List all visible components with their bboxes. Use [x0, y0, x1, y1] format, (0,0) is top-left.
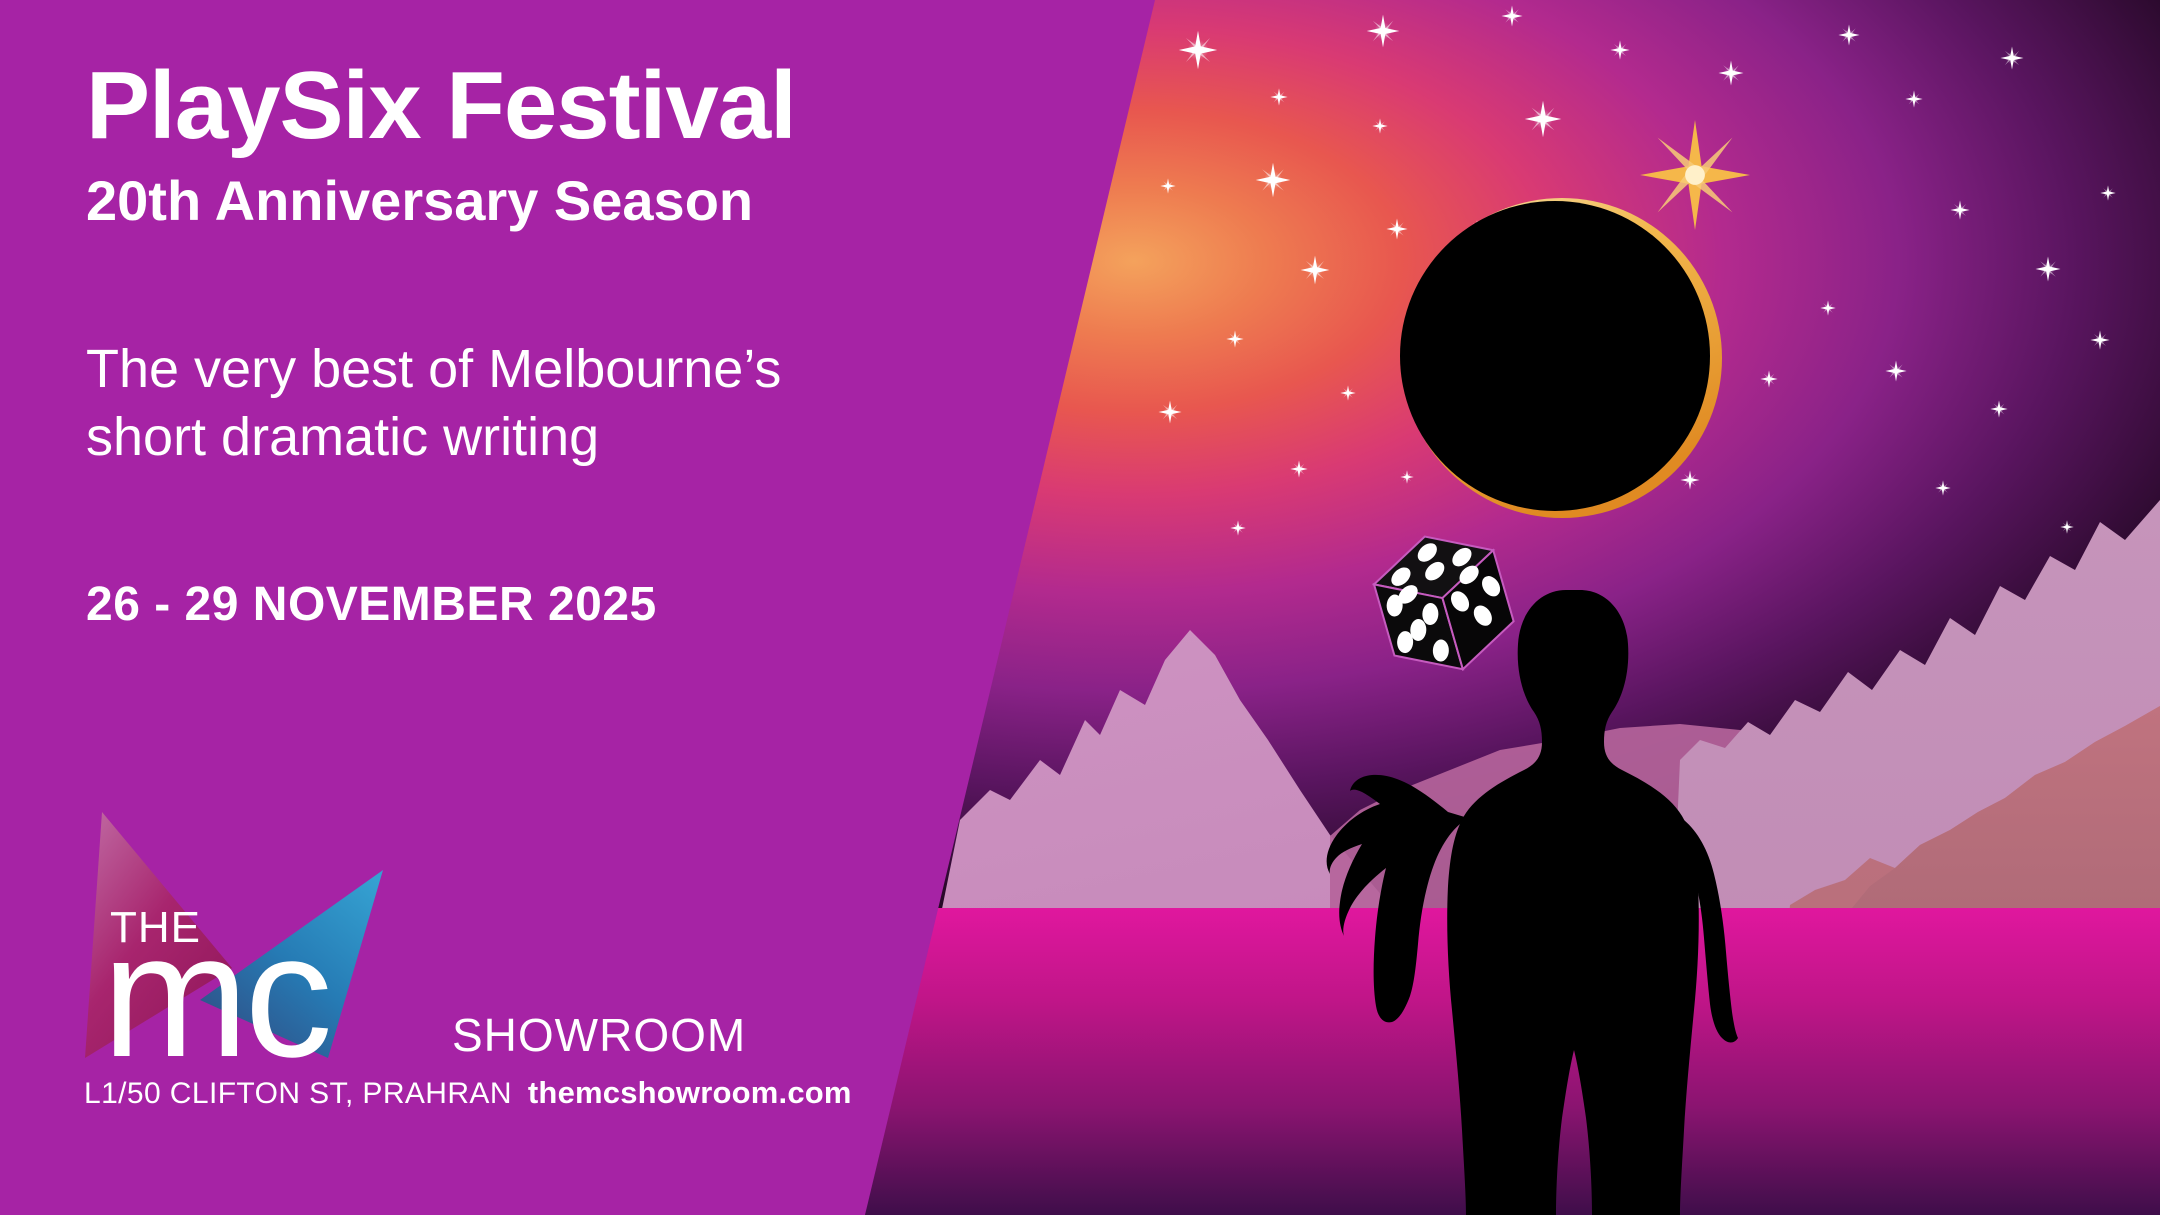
festival-poster: PlaySix Festival 20th Anniversary Season…	[0, 0, 2160, 1215]
mc-showroom-logo[interactable]: THE mc SHOWROOM L1/50 CLIFTON ST, PRAHRA…	[80, 800, 780, 1150]
logo-showroom-text: SHOWROOM	[452, 1008, 746, 1062]
event-dates: 26 - 29 NOVEMBER 2025	[86, 579, 796, 632]
logo-mc: mc	[102, 898, 329, 1080]
poster-tagline: The very best of Melbourne’s short drama…	[86, 335, 796, 471]
logo-address: L1/50 CLIFTON ST, PRAHRAN	[84, 1077, 512, 1110]
copy-block: PlaySix Festival 20th Anniversary Season…	[86, 56, 796, 632]
logo-footer: L1/50 CLIFTON ST, PRAHRANthemcshowroom.c…	[84, 1075, 852, 1111]
tagline-line-1: The very best of Melbourne’s	[86, 335, 796, 403]
tagline-line-2: short dramatic writing	[86, 403, 796, 471]
logo-website[interactable]: themcshowroom.com	[528, 1075, 852, 1110]
page-title: PlaySix Festival	[86, 56, 796, 156]
poster-subtitle: 20th Anniversary Season	[86, 170, 796, 232]
